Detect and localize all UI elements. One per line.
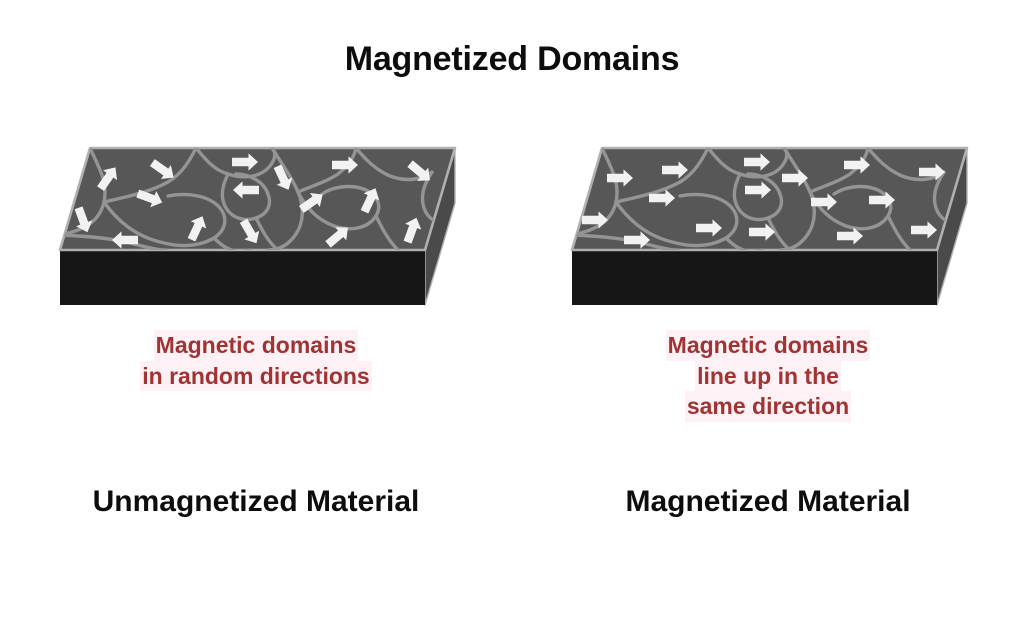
- panel-magnetized: Magnetic domainsline up in thesame direc…: [512, 130, 1024, 550]
- page-title: Magnetized Domains: [0, 40, 1024, 79]
- caption-line: Magnetic domains: [666, 330, 871, 361]
- caption-line: line up in the: [695, 361, 841, 392]
- block-diagram-unmagnetized: [0, 130, 512, 320]
- caption-line: Magnetic domains: [154, 330, 359, 361]
- panel-unmagnetized: Magnetic domainsin random directions Unm…: [0, 130, 512, 550]
- block-front-slab: [572, 250, 937, 305]
- material-label-magnetized: Magnetized Material: [512, 485, 1024, 519]
- caption-line: same direction: [685, 391, 851, 422]
- block-diagram-magnetized: [512, 130, 1024, 320]
- block-front-slab: [60, 250, 425, 305]
- caption-magnetized: Magnetic domainsline up in thesame direc…: [512, 330, 1024, 422]
- caption-line: in random directions: [140, 361, 371, 392]
- material-label-unmagnetized: Unmagnetized Material: [0, 485, 512, 519]
- caption-unmagnetized: Magnetic domainsin random directions: [0, 330, 512, 391]
